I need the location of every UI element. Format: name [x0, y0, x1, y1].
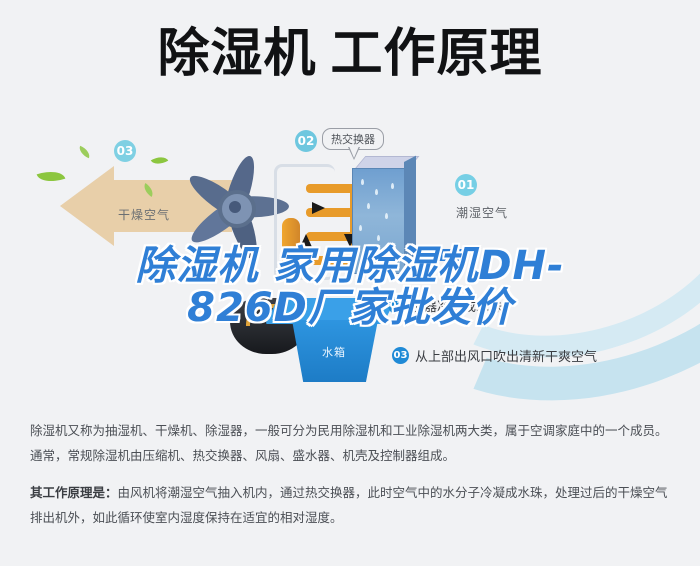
- badge-01: 01: [455, 174, 477, 196]
- dry-air-label: 干燥空气: [118, 206, 170, 223]
- page-title: 除湿机工作原理: [0, 28, 700, 80]
- caption-text: 发器冷凝成水珠: [411, 296, 502, 315]
- leaf-icon: [77, 146, 92, 159]
- title-text: 除湿机工作原理: [157, 28, 542, 80]
- caption-02: 02 发器冷凝成水珠: [388, 296, 502, 315]
- fan-hub: [218, 190, 256, 228]
- condensation-droplet: [385, 213, 388, 219]
- moist-air-label: 潮湿空气: [456, 204, 508, 221]
- refrigerant-coil-assembly: [272, 162, 364, 280]
- condensation-droplet: [377, 235, 380, 241]
- title-part-2: 工作原理: [331, 25, 543, 83]
- paragraph-1: 除湿机又称为抽湿机、干燥机、除湿器，一般可分为民用除湿机和工业除湿机两大类，属于…: [30, 418, 672, 468]
- water-tank-icon: 水箱: [278, 298, 404, 390]
- condensation-droplet: [359, 225, 362, 231]
- flow-arrow-icon: [312, 202, 325, 214]
- water-tank-label: 水箱: [322, 344, 346, 360]
- heat-exchanger-callout: 热交换器: [322, 128, 384, 150]
- air-inlet-arrow-icon: [412, 246, 464, 264]
- title-part-1: 除湿机: [157, 25, 316, 83]
- caption-number: 02: [388, 297, 405, 314]
- condensation-droplet: [391, 183, 394, 189]
- caption-text: 从上部出风口吹出清新干爽空气: [415, 346, 597, 365]
- caption-number: 03: [392, 347, 409, 364]
- paragraph-1-line-1: 除湿机又称为抽湿机、干燥机、除湿器，一般可分为民用除湿机和工业除湿机两大类，属于…: [30, 423, 668, 438]
- hx-face: [352, 168, 406, 274]
- arrow-body: [426, 249, 464, 261]
- condensation-droplet: [393, 245, 396, 251]
- paragraph-2-rest: 由风机将潮湿空气抽入机内，通过热交换器，此时空气中的水分子冷凝成水珠，处理过后的…: [30, 485, 668, 525]
- refrigerant-cylinder: [282, 218, 300, 276]
- body-copy: 除湿机又称为抽湿机、干燥机、除湿器，一般可分为民用除湿机和工业除湿机两大类，属于…: [30, 418, 672, 530]
- heat-exchanger-icon: [352, 156, 418, 272]
- paragraph-2: 其工作原理是：由风机将潮湿空气抽入机内，通过热交换器，此时空气中的水分子冷凝成水…: [30, 480, 672, 530]
- condensation-droplet: [375, 189, 378, 195]
- paragraph-1-line-2: 通常，常规除湿机由压缩机、热交换器、风扇、盛水器、机壳及控制器组成。: [30, 448, 455, 463]
- condensation-droplet: [365, 255, 368, 261]
- condensation-droplet: [367, 203, 370, 209]
- infographic-page: 除湿机工作原理 干燥空气: [0, 0, 700, 566]
- badge-03: 03: [114, 140, 136, 162]
- caption-03: 03 从上部出风口吹出清新干爽空气: [392, 346, 597, 365]
- flow-arrow-icon: [300, 234, 312, 247]
- illustration-stage: 干燥空气: [0, 118, 700, 408]
- badge-02: 02: [295, 130, 317, 152]
- condensation-droplet: [361, 179, 364, 185]
- paragraph-2-lead: 其工作原理是：: [30, 485, 118, 500]
